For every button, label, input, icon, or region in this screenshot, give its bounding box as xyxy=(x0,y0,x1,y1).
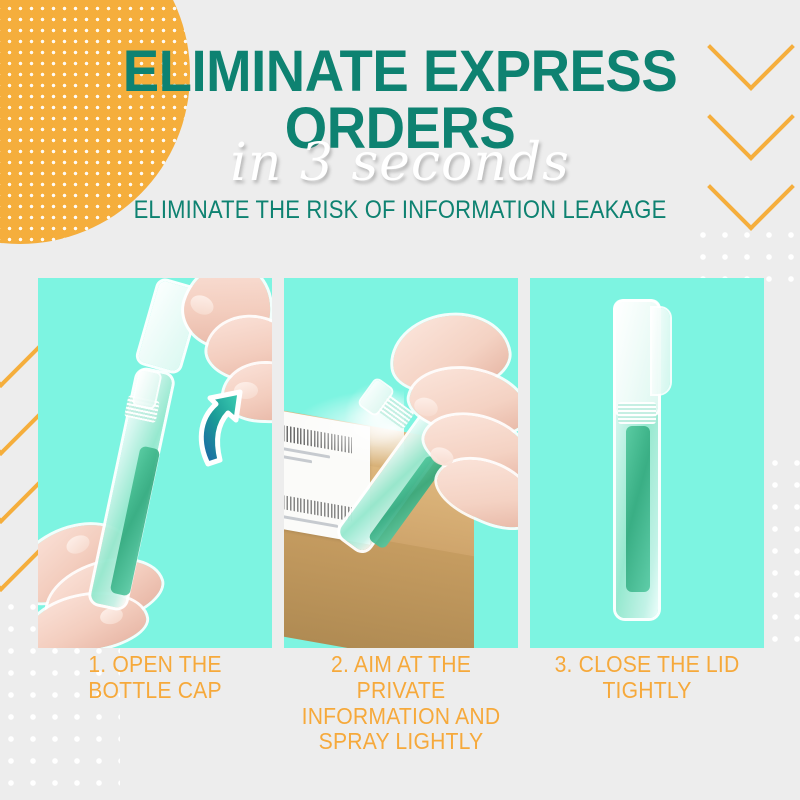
step-caption-1: 1. OPEN THE BOTTLE CAP xyxy=(47,652,262,755)
dot-grid-decoration-right-lower xyxy=(764,452,800,652)
step-panels xyxy=(38,278,764,648)
spray-pen-clip xyxy=(652,308,670,394)
step-panel-2 xyxy=(284,278,518,648)
promo-poster: ELIMINATE EXPRESS ORDERS in 3 seconds EL… xyxy=(0,0,800,800)
step-panel-3 xyxy=(530,278,764,648)
spray-pen-collar xyxy=(618,402,656,424)
script-overlay-text: in 3 seconds xyxy=(0,133,800,193)
chevron-down-icon xyxy=(0,386,30,444)
spray-pen-liquid xyxy=(626,426,650,592)
step-caption-3: 3. CLOSE THE LID TIGHTLY xyxy=(539,652,754,755)
step-caption-2: 2. AIM AT THE PRIVATE INFORMATION AND SP… xyxy=(293,652,508,755)
chevron-down-icon xyxy=(0,522,30,580)
chevron-down-icon xyxy=(0,454,30,512)
step-panel-1 xyxy=(38,278,272,648)
arrow-up-icon xyxy=(188,386,262,468)
subheadline: ELIMINATE THE RISK OF INFORMATION LEAKAG… xyxy=(48,196,752,225)
chevron-down-icon xyxy=(0,318,30,376)
header-block: ELIMINATE EXPRESS ORDERS in 3 seconds EL… xyxy=(0,0,800,262)
step-captions: 1. OPEN THE BOTTLE CAP 2. AIM AT THE PRI… xyxy=(38,652,764,755)
